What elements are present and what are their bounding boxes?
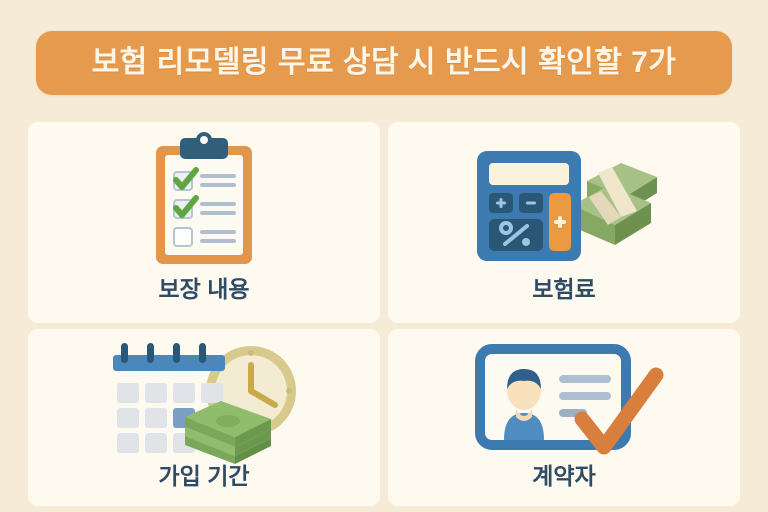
card-premium[interactable]: 보험료 — [388, 122, 740, 323]
money-stack — [573, 163, 657, 245]
calendar-clock-money-icon — [28, 335, 380, 465]
text-line-3a — [200, 230, 236, 234]
clipboard-checklist-svg — [129, 128, 279, 278]
calendar-ring-1 — [121, 343, 128, 363]
card-label-contractor: 계약자 — [532, 465, 595, 506]
text-line-1a — [200, 174, 236, 178]
id-card-check-icon — [388, 335, 740, 465]
calculator-display — [489, 163, 569, 185]
text-line-2b — [200, 211, 236, 215]
card-coverage[interactable]: 보장 내용 — [28, 122, 380, 323]
calendar-ring-3 — [173, 343, 180, 363]
calculator-money-svg — [469, 133, 659, 273]
calendar-clock-money-svg — [99, 335, 309, 465]
text-line-3b — [200, 239, 236, 243]
text-line-1b — [200, 183, 236, 187]
calendar-header — [113, 355, 225, 371]
money-seal — [216, 415, 240, 427]
text-line-2a — [200, 202, 236, 206]
calendar-ring-2 — [147, 343, 154, 363]
clipboard-clip-hole — [200, 136, 208, 144]
calendar-ring-4 — [199, 343, 206, 363]
id-card-check-svg — [464, 335, 664, 465]
card-grid: 보장 내용 — [28, 122, 740, 486]
id-text-line-1 — [559, 375, 611, 383]
calculator-money-icon — [388, 128, 740, 278]
id-text-line-2 — [559, 392, 611, 400]
clipboard-checklist-icon — [28, 128, 380, 278]
card-label-premium: 보험료 — [532, 278, 595, 323]
card-subscription-period[interactable]: 가입 기간 — [28, 329, 380, 506]
card-label-coverage: 보장 내용 — [158, 278, 249, 323]
card-contractor[interactable]: 계약자 — [388, 329, 740, 506]
card-label-subscription-period: 가입 기간 — [158, 465, 249, 506]
checkbox-empty-3[interactable] — [174, 228, 192, 246]
header-banner: 보험 리모델링 무료 상담 시 반드시 확인할 7가 — [36, 31, 732, 95]
page-title: 보험 리모델링 무료 상담 시 반드시 확인할 7가 — [92, 48, 677, 78]
